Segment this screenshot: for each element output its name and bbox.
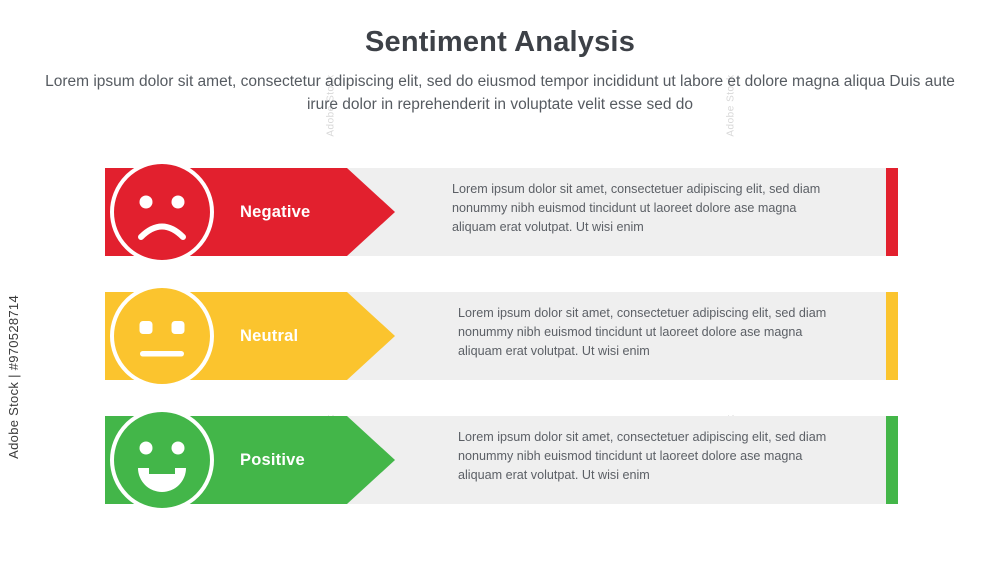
- row-label: Neutral: [240, 327, 298, 346]
- sentiment-row-negative: Negative Lorem ipsum dolor sit amet, con…: [0, 150, 1000, 256]
- row-accent-bar: [886, 416, 898, 504]
- neutral-face-icon: [108, 282, 216, 390]
- row-description: Lorem ipsum dolor sit amet, consectetuer…: [458, 428, 838, 485]
- row-description: Lorem ipsum dolor sit amet, consectetuer…: [458, 304, 838, 361]
- row-accent-bar: [886, 168, 898, 256]
- frowning-face-icon: [108, 158, 216, 266]
- infographic-canvas: Adobe Stock Adobe Stock Adobe Stock Adob…: [0, 0, 1000, 563]
- row-label: Positive: [240, 451, 305, 470]
- sentiment-row-neutral: Neutral Lorem ipsum dolor sit amet, cons…: [0, 274, 1000, 380]
- sentiment-rows: Negative Lorem ipsum dolor sit amet, con…: [0, 150, 1000, 522]
- smiling-face-icon: [108, 406, 216, 514]
- page-title: Sentiment Analysis: [0, 26, 1000, 59]
- page-subtitle: Lorem ipsum dolor sit amet, consectetur …: [44, 70, 956, 116]
- row-description: Lorem ipsum dolor sit amet, consectetuer…: [452, 180, 832, 237]
- row-accent-bar: [886, 292, 898, 380]
- row-label: Negative: [240, 203, 310, 222]
- sentiment-row-positive: Positive Lorem ipsum dolor sit amet, con…: [0, 398, 1000, 504]
